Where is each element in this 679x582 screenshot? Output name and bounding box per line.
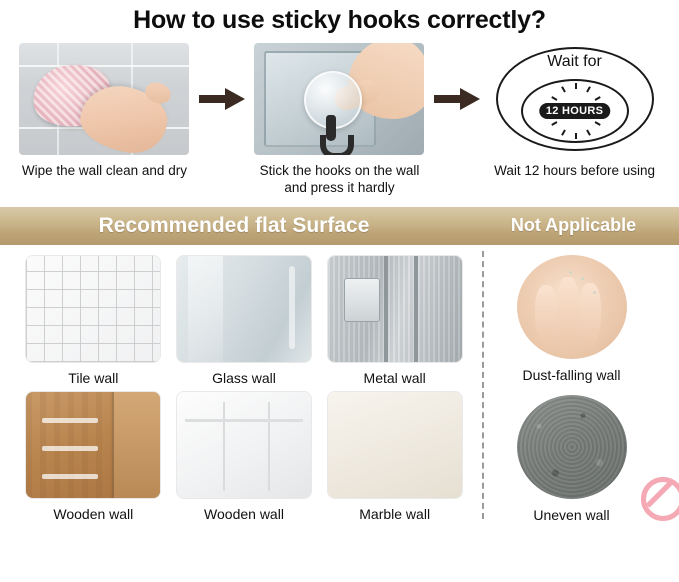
step-3: Wait for 12 HOURS Wai [484, 43, 665, 180]
arrow-right-icon [199, 86, 245, 112]
not-applicable-label: Dust-falling wall [522, 367, 620, 383]
arrow-1 [195, 43, 249, 155]
not-applicable-grid: Dust-falling wall Uneven wall [470, 255, 679, 523]
metal-wall-photo [327, 255, 463, 363]
surface-label: Wooden wall [204, 506, 284, 522]
surface-label: Tile wall [68, 370, 118, 386]
marble-wall-photo [327, 391, 463, 499]
surface-cell: Marble wall [319, 391, 470, 523]
wooden-wall-photo [25, 391, 161, 499]
not-applicable-cell: Uneven wall [517, 395, 627, 523]
surface-cell: Wooden wall [169, 391, 320, 523]
surface-cell: Tile wall [18, 255, 169, 387]
surfaces-section: Tile wall Glass wall Metal wall [0, 245, 679, 523]
surface-cell: Wooden wall [18, 391, 169, 523]
step-3-caption: Wait 12 hours before using [494, 163, 655, 180]
wait-for-label: Wait for [490, 53, 660, 71]
surface-label: Metal wall [364, 370, 426, 386]
recommended-banner-label: Recommended flat Surface [0, 214, 468, 238]
not-applicable-label: Uneven wall [533, 507, 609, 523]
not-applicable-cell: Dust-falling wall [517, 255, 627, 383]
dust-falling-wall-photo [517, 255, 627, 359]
clock-dial-icon: 12 HOURS [521, 79, 629, 143]
surface-cell: Glass wall [169, 255, 320, 387]
arrow-2 [430, 43, 484, 155]
recommended-surfaces-grid: Tile wall Glass wall Metal wall [0, 255, 470, 523]
page-title: How to use sticky hooks correctly? [0, 0, 679, 35]
uneven-wall-photo [517, 395, 627, 499]
step-1-caption: Wipe the wall clean and dry [22, 163, 187, 180]
not-applicable-banner-label: Not Applicable [468, 215, 679, 236]
section-divider [482, 251, 484, 519]
surface-label: Marble wall [359, 506, 430, 522]
duration-badge: 12 HOURS [539, 103, 610, 119]
surface-label: Glass wall [212, 370, 276, 386]
steps-row: Wipe the wall clean and dry Stick the ho… [0, 43, 679, 197]
surface-label: Wooden wall [53, 506, 133, 522]
tile-wall-photo [25, 255, 161, 363]
step-1: Wipe the wall clean and dry [14, 43, 195, 180]
surface-cell: Metal wall [319, 255, 470, 387]
white-wooden-wall-photo [176, 391, 312, 499]
no-entry-icon [641, 477, 679, 521]
glass-wall-photo [176, 255, 312, 363]
wait-clock-illustration: Wait for 12 HOURS [490, 43, 660, 155]
arrow-right-icon [434, 86, 480, 112]
wipe-wall-photo [19, 43, 189, 155]
step-2-caption: Stick the hooks on the wall and press it… [249, 163, 430, 197]
step-2: Stick the hooks on the wall and press it… [249, 43, 430, 197]
stick-hook-photo [254, 43, 424, 155]
section-banner: Recommended flat Surface Not Applicable [0, 207, 679, 245]
